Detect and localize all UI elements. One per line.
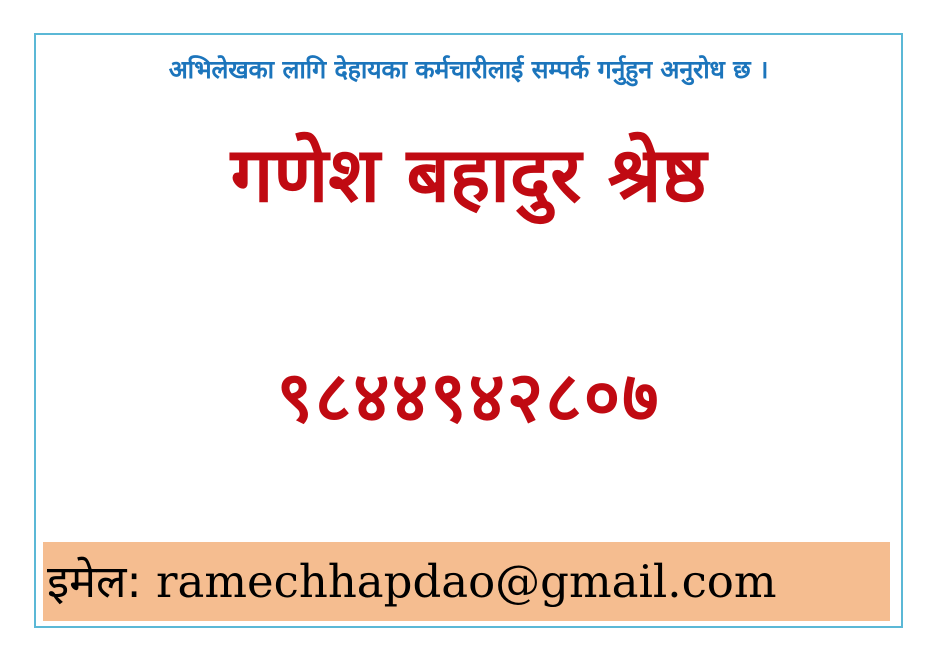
- notice-card-inner: अभिलेखका लागि देहायका कर्मचारीलाई सम्पर्…: [36, 35, 901, 626]
- contact-instruction-text: अभिलेखका लागि देहायका कर्मचारीलाई सम्पर्…: [36, 53, 901, 87]
- officer-phone-number: ९८४४९४२८०७: [36, 355, 901, 439]
- contact-notice-card: अभिलेखका लागि देहायका कर्मचारीलाई सम्पर्…: [34, 33, 903, 628]
- email-address: ramechhapdao@gmail.com: [156, 555, 777, 608]
- officer-name: गणेश बहादुर श्रेष्ठ: [36, 127, 901, 222]
- email-label: इमेल:: [47, 555, 142, 608]
- email-spacer: [142, 555, 156, 608]
- email-highlight-bar: इमेल: ramechhapdao@gmail.com: [43, 542, 890, 621]
- email-line: इमेल: ramechhapdao@gmail.com: [47, 559, 777, 604]
